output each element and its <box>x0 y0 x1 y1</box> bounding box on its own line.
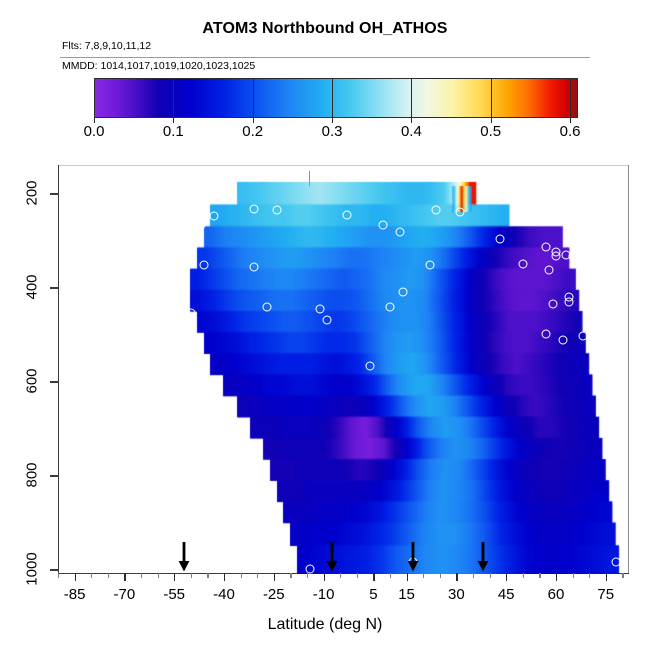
x-axis-tick-label: -10 <box>313 586 335 603</box>
heatmap-canvas <box>58 165 629 574</box>
x-axis-minor-tick <box>241 573 242 578</box>
x-axis-tick <box>373 573 374 581</box>
y-axis-title: PSXC (mbar) <box>0 322 1 417</box>
mmdd-annotation: MMDD: 1014,1017,1019,1020,1023,1025 <box>62 60 255 72</box>
x-axis-tick-label: 15 <box>398 586 415 603</box>
x-axis-tick <box>274 573 275 581</box>
colorbar-tick-label: 0.2 <box>242 123 263 140</box>
x-axis-tick <box>556 573 557 581</box>
x-axis-tick-label: 30 <box>448 586 465 603</box>
x-axis-minor-tick <box>473 573 474 578</box>
y-axis-tick-label: 200 <box>24 181 41 206</box>
latitude-arrow-marker <box>325 542 339 572</box>
header-divider <box>60 57 590 58</box>
x-axis-minor-tick <box>158 573 159 578</box>
y-axis-tick <box>50 287 58 288</box>
x-axis-tick <box>407 573 408 581</box>
y-axis-tick <box>50 193 58 194</box>
x-axis-tick-label: 5 <box>369 586 377 603</box>
curtain-heatmap <box>58 165 629 574</box>
x-axis-tick-label: -85 <box>64 586 86 603</box>
x-axis-tick <box>124 573 125 581</box>
x-axis-minor-tick <box>390 573 391 578</box>
x-axis-tick-label: 75 <box>597 586 614 603</box>
x-axis-minor-tick <box>108 573 109 578</box>
x-axis-title: Latitude (deg N) <box>0 616 650 634</box>
x-axis-tick-label: 60 <box>548 586 565 603</box>
colorbar-separator <box>173 78 174 118</box>
x-axis-minor-tick <box>423 573 424 578</box>
x-axis-tick-label: -25 <box>263 586 285 603</box>
colorbar-tick-label: 0.1 <box>163 123 184 140</box>
colorbar-tick-label: 0.4 <box>401 123 422 140</box>
x-axis-minor-tick <box>622 573 623 578</box>
y-axis-tick-label: 400 <box>24 275 41 300</box>
colorbar-separator <box>253 78 254 118</box>
x-axis-minor-tick <box>340 573 341 578</box>
x-axis-minor-tick <box>191 573 192 578</box>
y-axis-tick-label: 600 <box>24 369 41 394</box>
x-axis-minor-tick <box>490 573 491 578</box>
y-axis-tick-label: 1000 <box>24 553 41 586</box>
x-axis-minor-tick <box>357 573 358 578</box>
x-axis-minor-tick <box>539 573 540 578</box>
x-axis-minor-tick <box>91 573 92 578</box>
colorbar-frame <box>94 78 578 118</box>
colorbar-tick-label: 0.0 <box>84 123 105 140</box>
x-axis-minor-tick <box>141 573 142 578</box>
latitude-arrow-marker <box>406 542 420 572</box>
latitude-arrow-marker <box>177 542 191 572</box>
x-axis-minor-tick <box>290 573 291 578</box>
colorbar-separator <box>570 78 571 118</box>
x-axis-tick <box>224 573 225 581</box>
x-axis-minor-tick <box>573 573 574 578</box>
x-axis-tick-label: -40 <box>213 586 235 603</box>
x-axis-minor-tick <box>523 573 524 578</box>
colorbar-tick-label: 0.6 <box>560 123 581 140</box>
x-axis-tick-label: -70 <box>114 586 136 603</box>
x-axis-minor-tick <box>257 573 258 578</box>
x-axis-minor-tick <box>58 573 59 578</box>
y-axis-tick <box>50 569 58 570</box>
x-axis-tick <box>174 573 175 581</box>
page-title: ATOM3 Northbound OH_ATHOS <box>0 20 650 38</box>
x-axis-minor-tick <box>440 573 441 578</box>
colorbar-separator <box>491 78 492 118</box>
x-axis-minor-tick <box>589 573 590 578</box>
colorbar-tick-label: 0.3 <box>322 123 343 140</box>
x-axis-tick <box>606 573 607 581</box>
y-axis-tick-label: 800 <box>24 463 41 488</box>
colorbar-separator <box>411 78 412 118</box>
x-axis-tick <box>75 573 76 581</box>
x-axis-tick <box>456 573 457 581</box>
x-axis-tick-label: -55 <box>163 586 185 603</box>
colorbar-separator <box>332 78 333 118</box>
teal-tick-marker <box>309 171 311 187</box>
y-axis-tick <box>50 475 58 476</box>
x-axis-tick-label: 45 <box>498 586 515 603</box>
y-axis-tick <box>50 381 58 382</box>
colorbar-tick-label: 0.5 <box>480 123 501 140</box>
flights-annotation: Flts: 7,8,9,10,11,12 <box>62 40 151 52</box>
colorbar[interactable] <box>94 78 578 118</box>
latitude-arrow-marker <box>476 542 490 572</box>
plot-window: ATOM3 Northbound OH_ATHOS Flts: 7,8,9,10… <box>0 0 650 650</box>
x-axis-minor-tick <box>307 573 308 578</box>
x-axis-tick <box>506 573 507 581</box>
x-axis-minor-tick <box>207 573 208 578</box>
x-axis-tick <box>324 573 325 581</box>
